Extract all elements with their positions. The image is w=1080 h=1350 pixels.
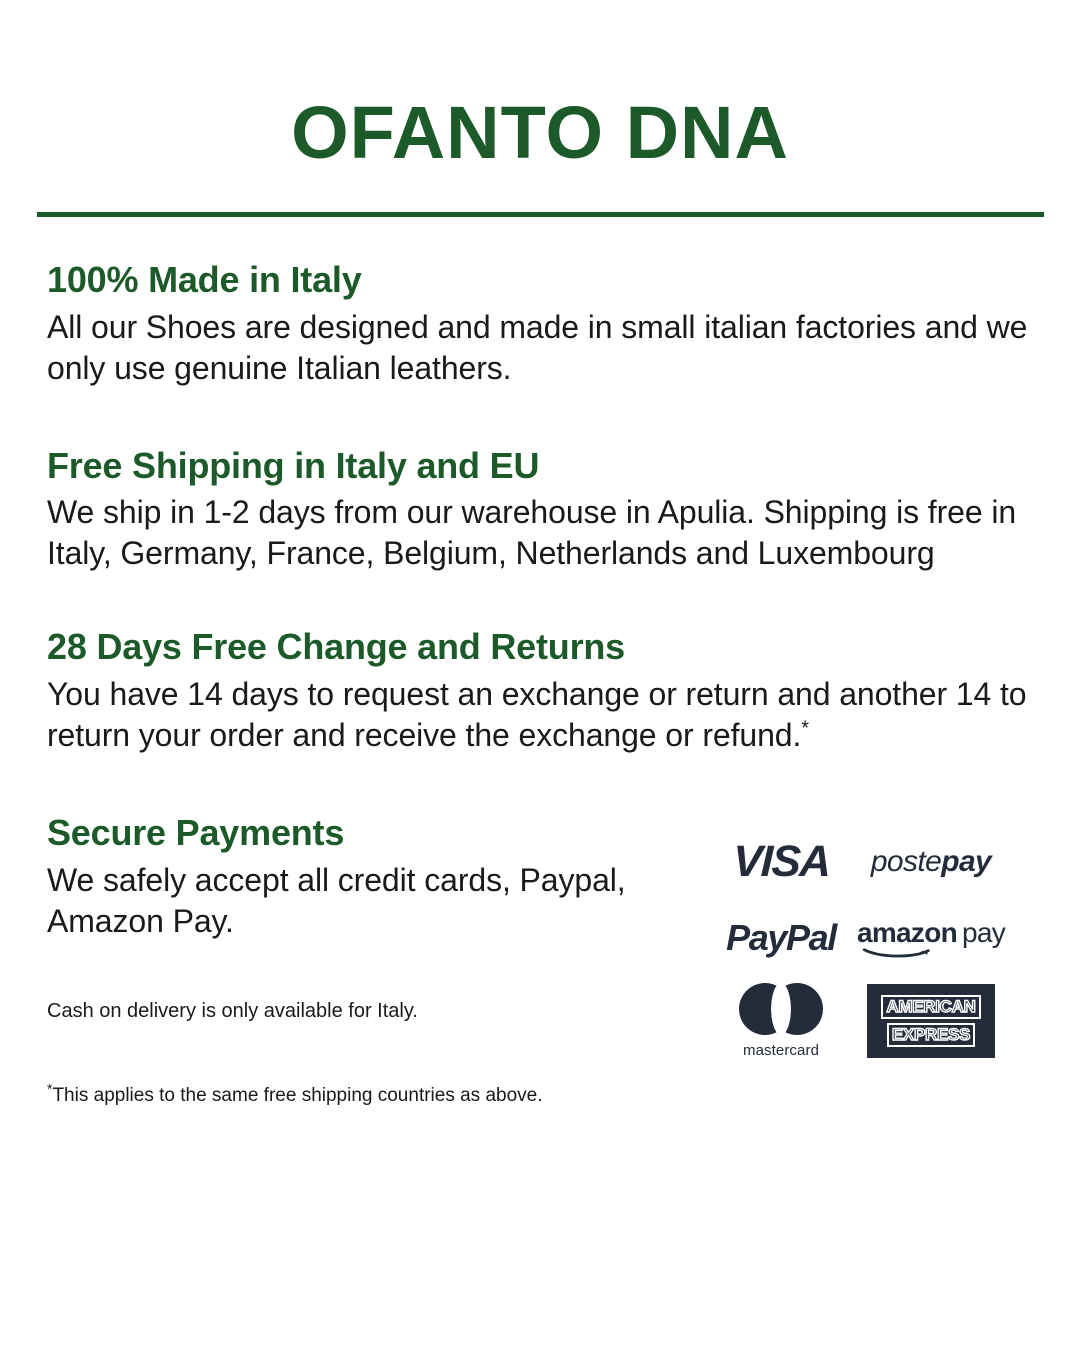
section-secure-payments: Secure Payments We safely accept all cre… — [47, 812, 1033, 1108]
mastercard-logo-icon: mastercard — [739, 983, 823, 1059]
mastercard-overlap-lens — [771, 983, 791, 1035]
section-change-and-returns: 28 Days Free Change and Returns You have… — [47, 626, 1033, 756]
postepay-logo-icon: postepay — [871, 845, 991, 879]
title-divider — [37, 212, 1044, 217]
section-body-change-and-returns: You have 14 days to request an exchange … — [47, 674, 1033, 756]
payment-logo-visa: VISA — [711, 824, 851, 900]
amex-line-american: AMERICAN — [881, 995, 980, 1019]
content-area: 100% Made in Italy All our Shoes are des… — [0, 259, 1080, 1108]
returns-body-text: You have 14 days to request an exchange … — [47, 676, 1027, 753]
section-heading-free-shipping: Free Shipping in Italy and EU — [47, 445, 1033, 487]
amazon-smile-arrow-icon — [859, 947, 939, 958]
section-body-secure-payments: We safely accept all credit cards, Paypa… — [47, 860, 707, 942]
payment-logo-mastercard: mastercard — [711, 976, 851, 1066]
payment-logo-american-express: AMERICAN EXPRESS — [861, 976, 1001, 1066]
payment-logo-grid: VISA postepay PayPal amazonpay — [711, 824, 1001, 1066]
amex-logo-icon: AMERICAN EXPRESS — [867, 984, 995, 1058]
section-heading-change-and-returns: 28 Days Free Change and Returns — [47, 626, 1033, 668]
amazon-pay-logo-light-text: pay — [962, 917, 1005, 948]
ofanto-dna-info-page: OFANTO DNA 100% Made in Italy All our Sh… — [0, 0, 1080, 1350]
section-made-in-italy: 100% Made in Italy All our Shoes are des… — [47, 259, 1033, 389]
secure-payments-text-column: Secure Payments We safely accept all cre… — [47, 812, 707, 1108]
payment-logo-amazon-pay: amazonpay — [861, 900, 1001, 976]
section-heading-made-in-italy: 100% Made in Italy — [47, 259, 1033, 301]
page-footnote: *This applies to the same free shipping … — [47, 1084, 707, 1109]
paypal-logo-icon: PayPal — [726, 917, 836, 959]
returns-footnote-marker: * — [801, 717, 809, 739]
page-header: OFANTO DNA — [0, 0, 1080, 217]
postepay-logo-bold-text: pay — [941, 845, 991, 878]
amazon-pay-logo-bold-text: amazon — [857, 917, 957, 948]
amazon-pay-logo-icon: amazonpay — [857, 917, 1005, 958]
cash-on-delivery-note: Cash on delivery is only available for I… — [47, 998, 707, 1024]
visa-logo-icon: VISA — [732, 837, 830, 887]
section-heading-secure-payments: Secure Payments — [47, 812, 707, 854]
mastercard-wordmark: mastercard — [743, 1042, 819, 1059]
section-body-made-in-italy: All our Shoes are designed and made in s… — [47, 307, 1033, 389]
payment-logo-postepay: postepay — [861, 824, 1001, 900]
amex-line-express: EXPRESS — [887, 1023, 975, 1047]
postepay-logo-light-text: poste — [871, 845, 941, 878]
footnote-text: This applies to the same free shipping c… — [52, 1085, 542, 1106]
mastercard-circles — [739, 983, 823, 1035]
section-free-shipping: Free Shipping in Italy and EU We ship in… — [47, 445, 1033, 575]
section-body-free-shipping: We ship in 1-2 days from our warehouse i… — [47, 492, 1033, 574]
page-title: OFANTO DNA — [0, 96, 1080, 170]
payment-logo-paypal: PayPal — [711, 900, 851, 976]
